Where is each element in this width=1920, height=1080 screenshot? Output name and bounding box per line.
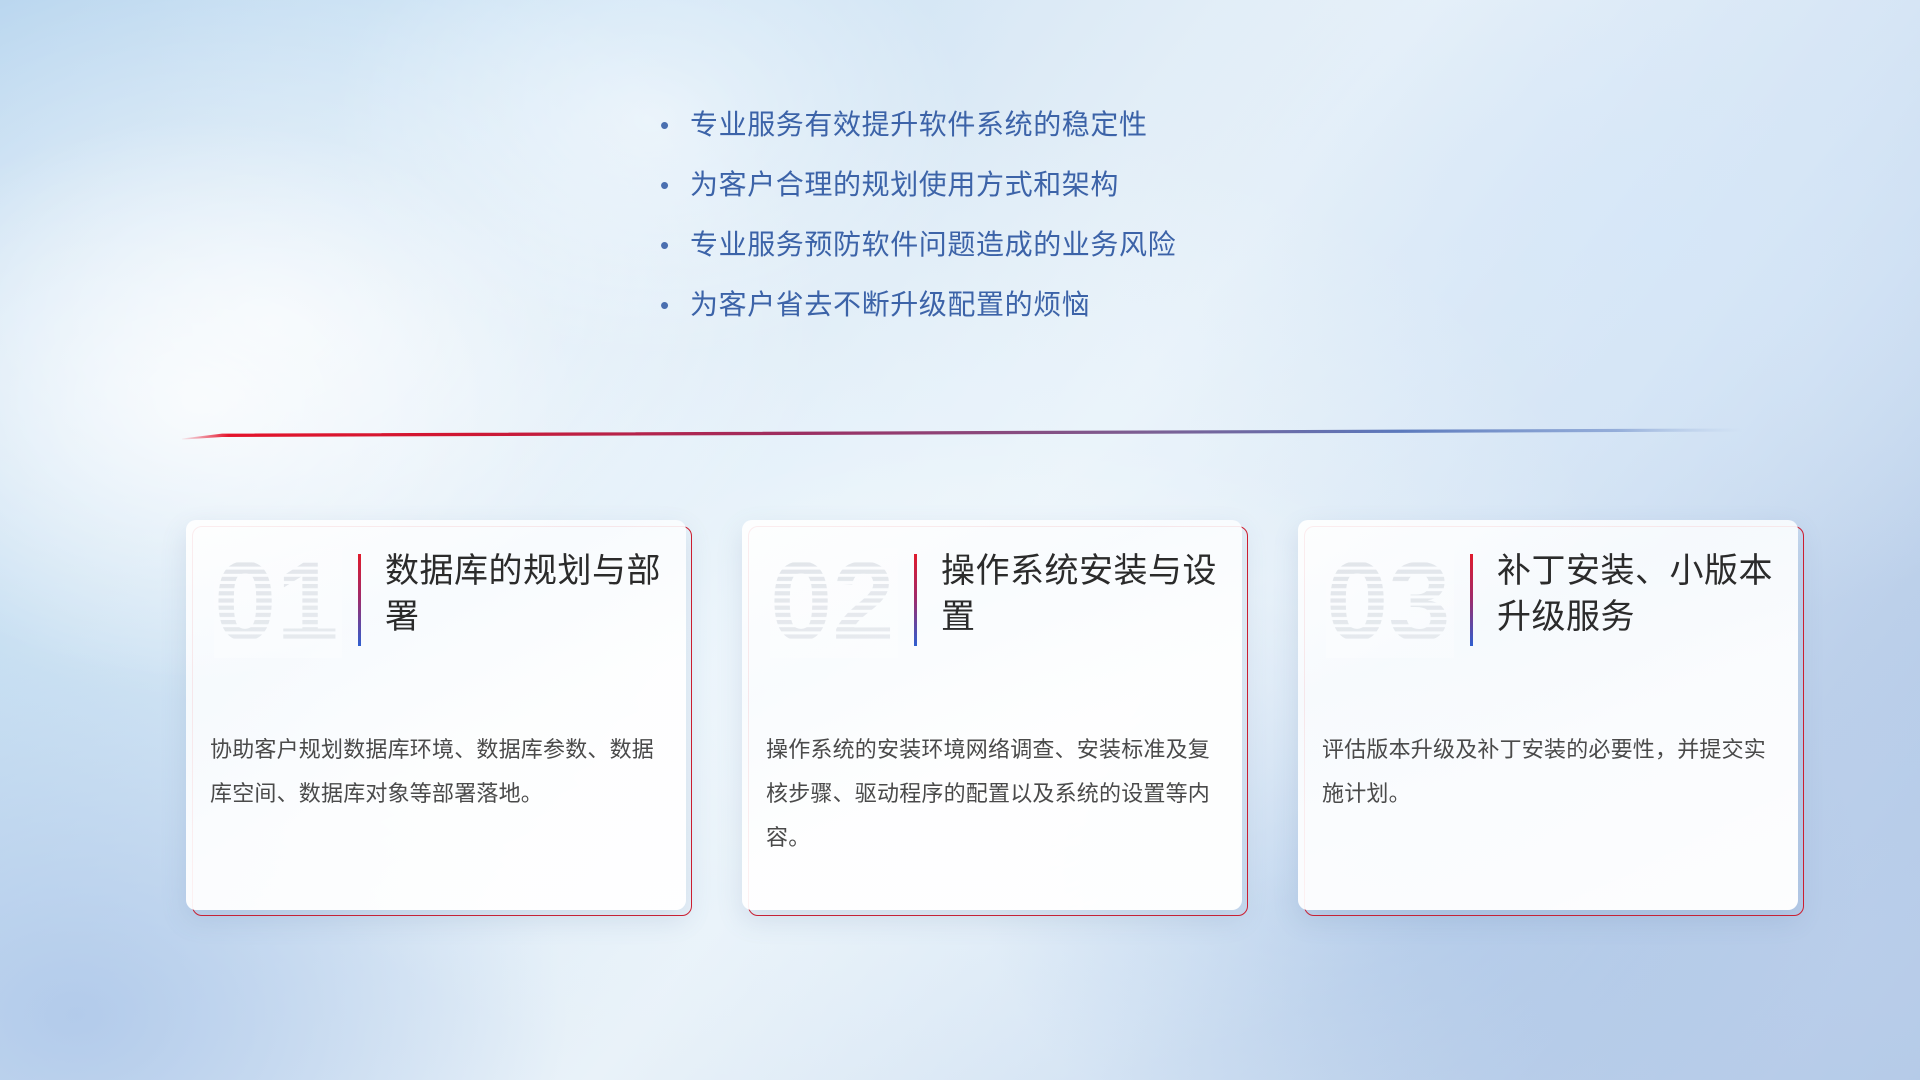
card-content: 02 操作系统安装与设置 操作系统的安装环境网络调查、安装标准及复核步骤、驱动程… — [742, 520, 1242, 910]
bullet-label: 专业服务有效提升软件系统的稳定性 — [690, 108, 1148, 142]
card-number-striped: 03 — [1326, 548, 1454, 658]
bullet-dot-icon: • — [660, 228, 690, 262]
card-content: 03 补丁安装、小版本升级服务 评估版本升级及补丁安装的必要性，并提交实施计划。 — [1298, 520, 1798, 910]
section-divider — [182, 428, 1742, 442]
card-title: 数据库的规划与部署 — [385, 546, 662, 640]
bullet-label: 为客户省去不断升级配置的烦恼 — [690, 288, 1090, 322]
card-header: 01 数据库的规划与部署 — [210, 546, 662, 672]
card-title-separator — [1470, 554, 1473, 646]
list-item: • 专业服务有效提升软件系统的稳定性 — [660, 108, 1176, 142]
card-description: 协助客户规划数据库环境、数据库参数、数据库空间、数据库对象等部署落地。 — [210, 728, 662, 816]
bullet-label: 专业服务预防软件问题造成的业务风险 — [690, 228, 1176, 262]
list-item: • 为客户合理的规划使用方式和架构 — [660, 168, 1176, 202]
list-item: • 专业服务预防软件问题造成的业务风险 — [660, 228, 1176, 262]
list-item: • 为客户省去不断升级配置的烦恼 — [660, 288, 1176, 322]
card-header: 02 操作系统安装与设置 — [766, 546, 1218, 672]
card-title-separator — [358, 554, 361, 646]
service-card-row: 01 数据库的规划与部署 协助客户规划数据库环境、数据库参数、数据库空间、数据库… — [186, 520, 1798, 910]
service-card[interactable]: 01 数据库的规划与部署 协助客户规划数据库环境、数据库参数、数据库空间、数据库… — [186, 520, 686, 910]
slide-canvas: • 专业服务有效提升软件系统的稳定性 • 为客户合理的规划使用方式和架构 • 专… — [0, 0, 1920, 1080]
bullet-dot-icon: • — [660, 108, 690, 142]
card-header: 03 补丁安装、小版本升级服务 — [1322, 546, 1774, 672]
card-title-separator — [914, 554, 917, 646]
card-number-striped: 02 — [770, 548, 898, 658]
service-card[interactable]: 02 操作系统安装与设置 操作系统的安装环境网络调查、安装标准及复核步骤、驱动程… — [742, 520, 1242, 910]
card-description: 评估版本升级及补丁安装的必要性，并提交实施计划。 — [1322, 728, 1774, 816]
service-card[interactable]: 03 补丁安装、小版本升级服务 评估版本升级及补丁安装的必要性，并提交实施计划。 — [1298, 520, 1798, 910]
card-description: 操作系统的安装环境网络调查、安装标准及复核步骤、驱动程序的配置以及系统的设置等内… — [766, 728, 1218, 860]
card-title: 操作系统安装与设置 — [941, 546, 1218, 640]
bullet-dot-icon: • — [660, 168, 690, 202]
card-content: 01 数据库的规划与部署 协助客户规划数据库环境、数据库参数、数据库空间、数据库… — [186, 520, 686, 910]
bullet-label: 为客户合理的规划使用方式和架构 — [690, 168, 1119, 202]
benefits-bullet-list: • 专业服务有效提升软件系统的稳定性 • 为客户合理的规划使用方式和架构 • 专… — [660, 108, 1176, 322]
card-title: 补丁安装、小版本升级服务 — [1497, 546, 1774, 640]
card-number-striped: 01 — [214, 548, 342, 658]
bullet-dot-icon: • — [660, 288, 690, 322]
